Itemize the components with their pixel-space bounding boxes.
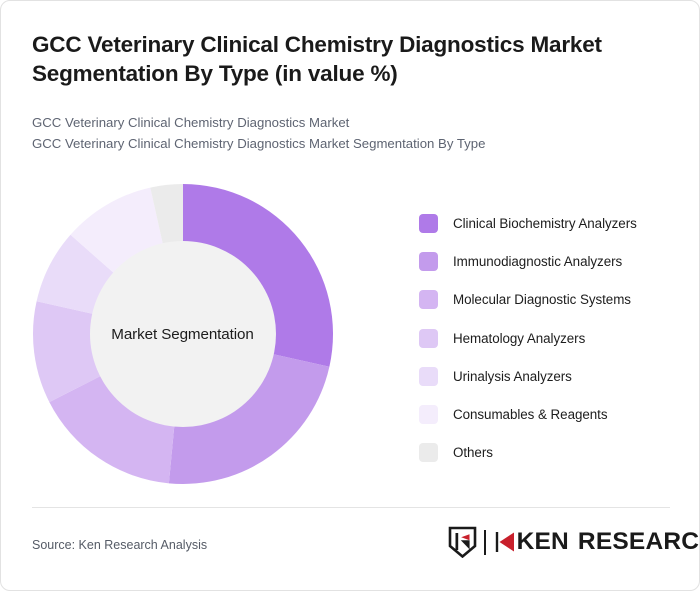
ken-research-k-logo-icon	[448, 526, 477, 558]
legend-item-label: Hematology Analyzers	[453, 331, 585, 346]
brand-k-glyph-icon	[495, 529, 517, 555]
brand-logo: KEN RESEARCH	[448, 526, 700, 558]
legend-item[interactable]: Immunodiagnostic Analyzers	[419, 242, 681, 280]
legend-item-label: Urinalysis Analyzers	[453, 369, 572, 384]
legend-swatch-icon	[419, 290, 438, 309]
legend-item[interactable]: Clinical Biochemistry Analyzers	[419, 204, 681, 242]
legend-swatch-icon	[419, 214, 438, 233]
subtitle-line-2: GCC Veterinary Clinical Chemistry Diagno…	[32, 134, 652, 155]
legend-item-label: Clinical Biochemistry Analyzers	[453, 216, 637, 231]
subtitle-block: GCC Veterinary Clinical Chemistry Diagno…	[32, 113, 652, 155]
legend-swatch-icon	[419, 252, 438, 271]
brand-divider	[484, 530, 486, 555]
legend-item-label: Others	[453, 445, 493, 460]
legend-swatch-icon	[419, 329, 438, 348]
legend-swatch-icon	[419, 405, 438, 424]
legend-swatch-icon	[419, 443, 438, 462]
legend-item-label: Immunodiagnostic Analyzers	[453, 254, 622, 269]
source-text: Source: Ken Research Analysis	[32, 538, 207, 552]
legend-item[interactable]: Molecular Diagnostic Systems	[419, 281, 681, 319]
legend-item-label: Consumables & Reagents	[453, 407, 607, 422]
legend-item[interactable]: Others	[419, 434, 681, 472]
brand-word-ken: KEN	[517, 530, 569, 555]
legend-item[interactable]: Hematology Analyzers	[419, 319, 681, 357]
page-title: GCC Veterinary Clinical Chemistry Diagno…	[32, 31, 672, 88]
legend-swatch-icon	[419, 367, 438, 386]
brand-wordmark: KEN RESEARCH	[495, 529, 700, 555]
chart-card: GCC Veterinary Clinical Chemistry Diagno…	[0, 0, 700, 591]
donut-chart: Market Segmentation	[23, 173, 343, 495]
legend-item-label: Molecular Diagnostic Systems	[453, 292, 631, 307]
footer-divider	[32, 507, 670, 508]
legend-item[interactable]: Urinalysis Analyzers	[419, 357, 681, 395]
chart-legend: Clinical Biochemistry AnalyzersImmunodia…	[419, 204, 681, 472]
subtitle-line-1: GCC Veterinary Clinical Chemistry Diagno…	[32, 113, 652, 134]
brand-word-research: RESEARCH	[578, 530, 700, 555]
legend-item[interactable]: Consumables & Reagents	[419, 395, 681, 433]
donut-hole	[90, 241, 276, 427]
donut-chart-svg	[23, 173, 343, 495]
